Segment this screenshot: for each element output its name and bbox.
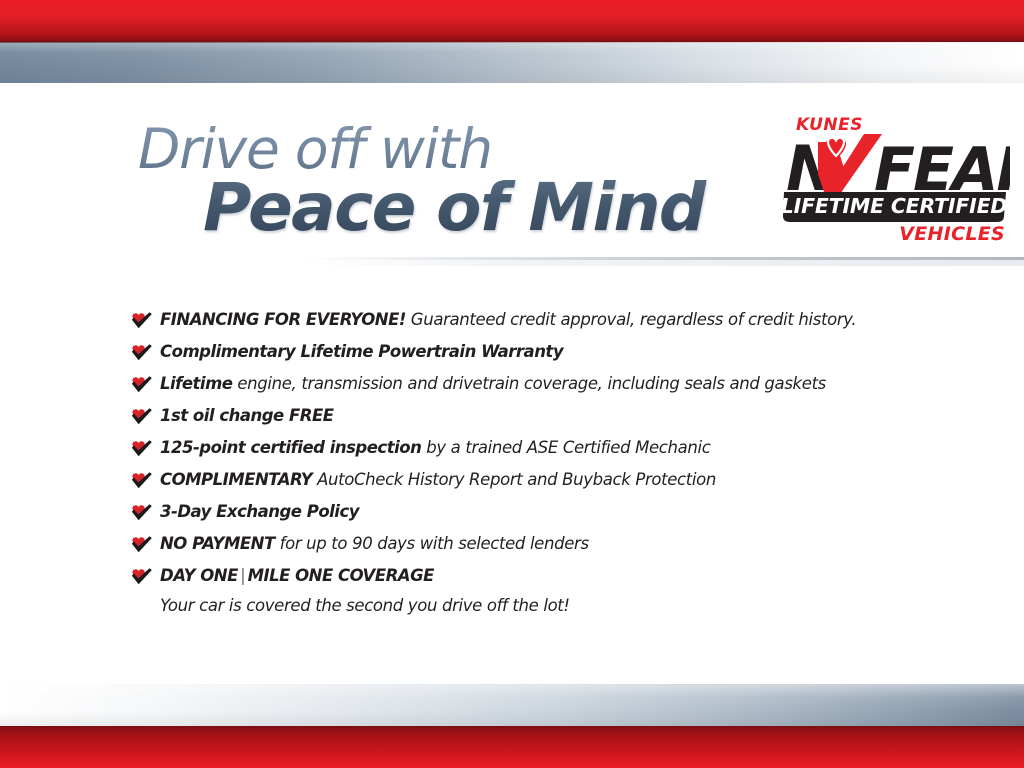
list-item-text: 3-Day Exchange Policy [160, 500, 359, 522]
list-item-bold: 1st oil change FREE [160, 406, 334, 425]
list-item-bold-b: MILE ONE COVERAGE [248, 566, 434, 585]
list-item-text: DAY ONE|MILE ONE COVERAGE [160, 564, 434, 586]
heart-check-icon [130, 343, 154, 365]
list-item: 1st oil change FREE [130, 404, 930, 436]
list-item-normal: engine, transmission and drivetrain cove… [232, 374, 825, 393]
top-band-hairline [0, 42, 1024, 43]
list-item-text: Complimentary Lifetime Powertrain Warran… [160, 340, 563, 362]
list-item: COMPLIMENTARY AutoCheck History Report a… [130, 468, 930, 500]
heart-check-icon [130, 503, 154, 525]
list-item-bold: 125-point certified inspection [160, 438, 421, 457]
list-item-text: 1st oil change FREE [160, 404, 334, 426]
top-red-band [0, 0, 1024, 42]
heart-check-icon [130, 407, 154, 429]
headline-line-two: Peace of Mind [203, 172, 778, 244]
heart-check-icon [130, 567, 154, 589]
promotional-banner: Drive off with Peace of Mind KUNES N FEA… [0, 0, 1024, 768]
heart-check-icon [130, 375, 154, 397]
kunes-no-fear-logo: KUNES N FEAR LIFETIME CERTIFIED VEHICLES [778, 112, 1010, 242]
list-item-separator: | [238, 566, 248, 585]
list-item-text: NO PAYMENT for up to 90 days with select… [160, 532, 589, 554]
list-item: DAY ONE|MILE ONE COVERAGE [130, 564, 930, 596]
list-item-normal: Guaranteed credit approval, regardless o… [406, 310, 856, 329]
logo-bar-text: LIFETIME CERTIFIED [781, 194, 1008, 218]
list-item-text: COMPLIMENTARY AutoCheck History Report a… [160, 468, 716, 490]
headline-block: Drive off with Peace of Mind [138, 120, 778, 244]
list-item-bold: 3-Day Exchange Policy [160, 502, 359, 521]
list-item-text: FINANCING FOR EVERYONE! Guaranteed credi… [160, 308, 856, 330]
list-item-bold: Complimentary Lifetime Powertrain Warran… [160, 342, 563, 361]
list-item-bold-a: DAY ONE [160, 566, 238, 585]
list-item-bold: Lifetime [160, 374, 232, 393]
logo-footer-text: VEHICLES [899, 223, 1005, 242]
list-item: 125-point certified inspection by a trai… [130, 436, 930, 468]
list-item-subtext: Your car is covered the second you drive… [160, 595, 930, 617]
list-item-text: Lifetime engine, transmission and drivet… [160, 372, 826, 394]
list-item-bold: COMPLIMENTARY [160, 470, 312, 489]
top-band-sheen [0, 42, 1024, 83]
bottom-red-band [0, 726, 1024, 768]
list-item: 3-Day Exchange Policy [130, 500, 930, 532]
benefits-list: FINANCING FOR EVERYONE! Guaranteed credi… [130, 308, 930, 617]
logo-svg: KUNES N FEAR LIFETIME CERTIFIED VEHICLES [778, 112, 1010, 242]
section-divider-shadow [300, 260, 1024, 266]
list-item: Lifetime engine, transmission and drivet… [130, 372, 930, 404]
list-item: NO PAYMENT for up to 90 days with select… [130, 532, 930, 564]
heart-check-icon [130, 439, 154, 461]
list-item-normal: by a trained ASE Certified Mechanic [421, 438, 710, 457]
list-item-normal: AutoCheck History Report and Buyback Pro… [312, 470, 716, 489]
heart-check-icon [130, 471, 154, 493]
list-item-bold: FINANCING FOR EVERYONE! [160, 310, 406, 329]
list-item-text: 125-point certified inspection by a trai… [160, 436, 710, 458]
list-item: Complimentary Lifetime Powertrain Warran… [130, 340, 930, 372]
list-item-normal: for up to 90 days with selected lenders [275, 534, 589, 553]
list-item-bold: NO PAYMENT [160, 534, 275, 553]
heart-check-icon [130, 311, 154, 333]
bottom-band-sheen [0, 685, 1024, 726]
heart-check-icon [130, 535, 154, 557]
list-item: FINANCING FOR EVERYONE! Guaranteed credi… [130, 308, 930, 340]
